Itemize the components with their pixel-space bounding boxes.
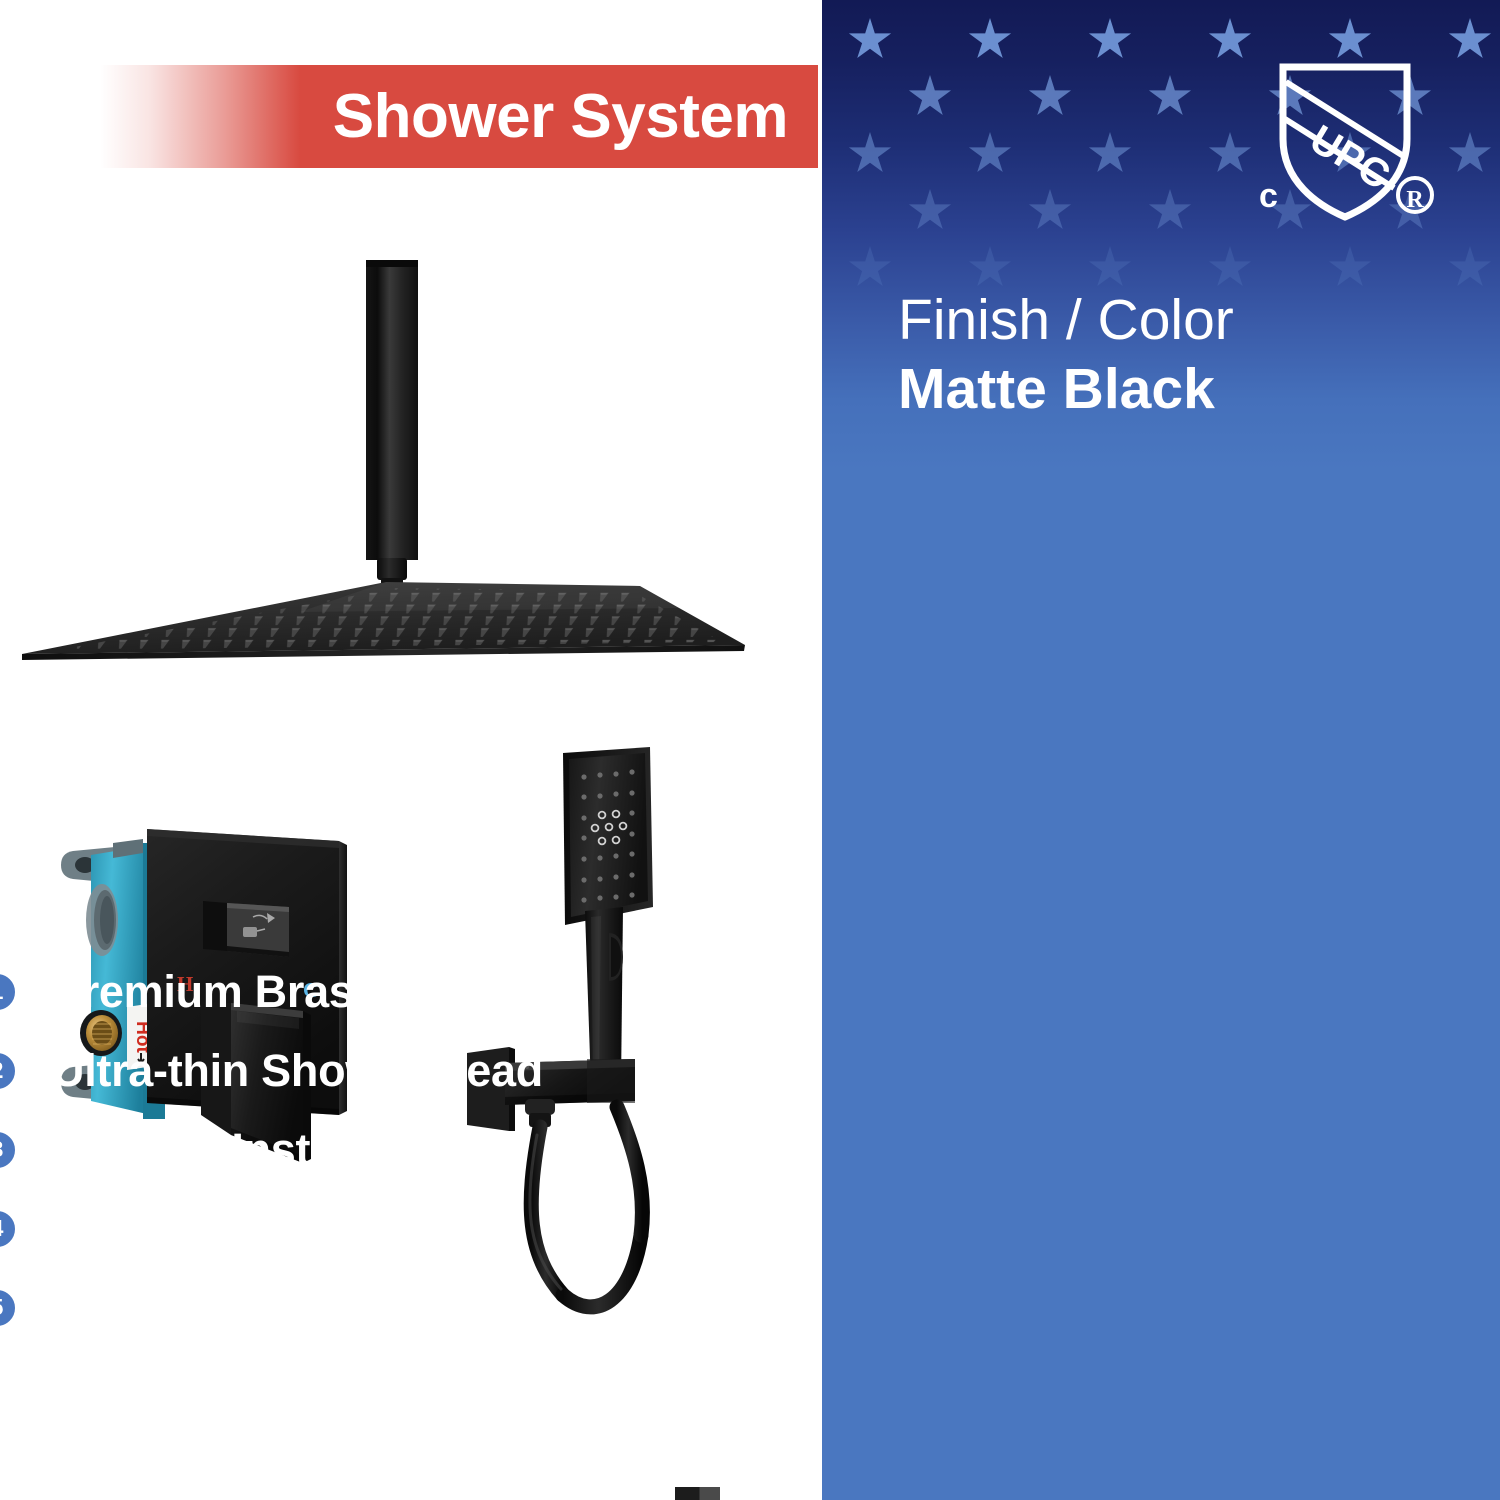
feature-list: 1 Premium Brass 2 Ultra-thin Shower Head… (0, 952, 700, 1347)
star-icon (1208, 246, 1252, 290)
title-banner: Shower System (0, 65, 818, 168)
svg-text:R: R (1406, 187, 1424, 213)
feature-label: Premium Brass (52, 969, 378, 1014)
feature-item-3: 3 Easy To Install (0, 1110, 700, 1189)
star-icon (848, 246, 892, 290)
star-icon (1448, 18, 1492, 62)
star-icon (1028, 75, 1072, 119)
star-icon (1208, 132, 1252, 176)
page-title: Shower System (333, 86, 788, 148)
star-icon (1088, 246, 1132, 290)
feature-number-badge: 2 (0, 1050, 18, 1092)
star-icon (1448, 132, 1492, 176)
star-icon (968, 132, 1012, 176)
feature-number-badge: 1 (0, 971, 18, 1013)
star-icon (1028, 189, 1072, 233)
finish-label: Finish / Color (898, 290, 1458, 352)
feature-item-5: 5 Big Flow Rate (0, 1268, 700, 1347)
feature-label: Big Flow Rate (52, 1285, 346, 1330)
star-icon (848, 18, 892, 62)
star-icon (1448, 246, 1492, 290)
star-icon (908, 189, 952, 233)
star-icon (1088, 132, 1132, 176)
feature-number-badge: 4 (0, 1208, 18, 1250)
feature-label: Ultra-thin Shower Head (52, 1048, 543, 1093)
star-icon (848, 132, 892, 176)
star-icon (1328, 246, 1372, 290)
star-icon (1148, 189, 1192, 233)
star-icon (1148, 75, 1192, 119)
star-icon (968, 18, 1012, 62)
finish-color-block: Finish / Color Matte Black (898, 290, 1458, 421)
upc-certification-logo: UPC c R (1255, 55, 1440, 230)
star-icon (1208, 18, 1252, 62)
feature-item-4: 4 All-in-one Diverter (0, 1189, 700, 1268)
feature-item-2: 2 Ultra-thin Shower Head (0, 1031, 700, 1110)
upc-c-mark: c (1259, 177, 1278, 215)
feature-item-1: 1 Premium Brass (0, 952, 700, 1031)
finish-value: Matte Black (898, 358, 1458, 422)
star-icon (968, 246, 1012, 290)
registered-trademark-icon: R (1398, 178, 1432, 213)
star-icon (908, 75, 952, 119)
feature-label: All-in-one Diverter (52, 1206, 436, 1251)
feature-number-badge: 5 (0, 1287, 18, 1329)
ceiling-shower-head-illustration (0, 250, 820, 690)
feature-label: Easy To Install (52, 1127, 359, 1172)
bottom-edge-strip (675, 1487, 720, 1500)
feature-number-badge: 3 (0, 1129, 18, 1171)
star-icon (1088, 18, 1132, 62)
upc-band-text: UPC (1302, 117, 1397, 198)
diverter-button-graphic (203, 901, 289, 957)
